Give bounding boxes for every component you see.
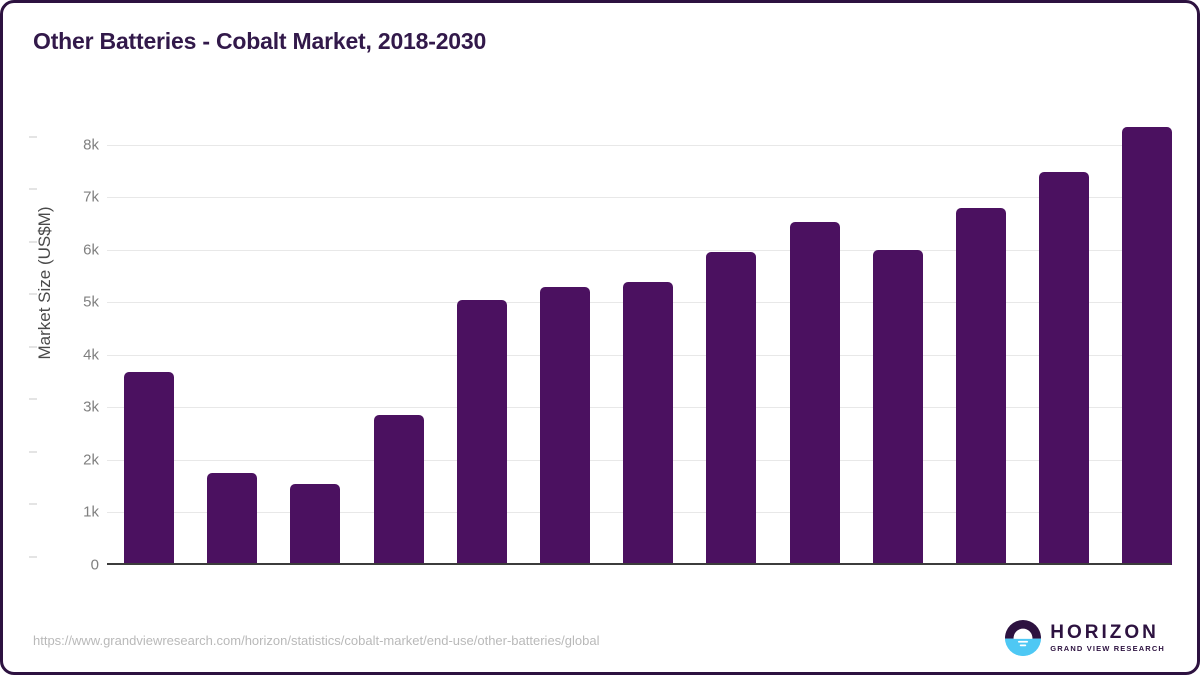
gridline xyxy=(107,197,1171,198)
logo-subtitle: GRAND VIEW RESEARCH xyxy=(1050,645,1165,653)
plot-area: 01k2k3k4k5k6k7k8k Market Size (US$M) 201… xyxy=(107,113,1171,565)
bar[interactable] xyxy=(706,252,756,565)
logo-title: HORIZON xyxy=(1050,623,1165,642)
y-tick-mark xyxy=(29,557,37,558)
bar[interactable] xyxy=(1122,127,1172,565)
bar[interactable] xyxy=(956,208,1006,565)
gridline xyxy=(107,250,1171,251)
bar[interactable] xyxy=(790,222,840,565)
y-axis-label: Market Size (US$M) xyxy=(35,113,59,453)
chart-page: Other Batteries - Cobalt Market, 2018-20… xyxy=(0,0,1200,675)
bar[interactable] xyxy=(374,415,424,565)
bar[interactable] xyxy=(290,484,340,565)
horizon-logo: HORIZON GRAND VIEW RESEARCH xyxy=(1005,620,1165,656)
bar[interactable] xyxy=(540,287,590,565)
bar[interactable] xyxy=(207,473,257,565)
bar[interactable] xyxy=(457,300,507,565)
logo-text: HORIZON GRAND VIEW RESEARCH xyxy=(1050,623,1165,653)
bar[interactable] xyxy=(124,372,174,565)
page-title: Other Batteries - Cobalt Market, 2018-20… xyxy=(33,28,486,55)
y-tick-label: 1k xyxy=(39,504,99,521)
bar[interactable] xyxy=(1039,172,1089,565)
source-url[interactable]: https://www.grandviewresearch.com/horizo… xyxy=(33,633,599,648)
bar[interactable] xyxy=(873,250,923,565)
horizon-logo-icon xyxy=(1005,620,1041,656)
y-tick-label: 0 xyxy=(39,557,99,574)
bar[interactable] xyxy=(623,282,673,565)
y-tick-label: 2k xyxy=(39,451,99,468)
x-axis-line xyxy=(107,563,1171,565)
gridline xyxy=(107,145,1171,146)
y-tick-mark xyxy=(29,504,37,505)
